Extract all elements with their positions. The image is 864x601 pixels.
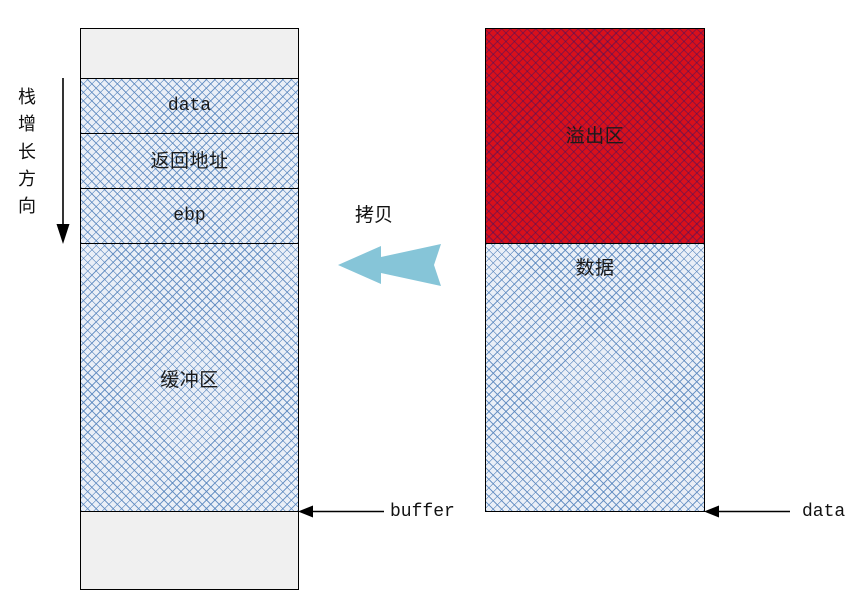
diagram-canvas: 栈 增 长 方 向 data 返回地址 ebp 缓冲区 buffer 拷贝 溢出… [0,0,864,601]
source-cell-overflow: 溢出区 [485,28,705,244]
stack-cell-return-address-label: 返回地址 [150,152,228,171]
stack-cell-data: data [80,78,299,134]
buffer-pointer-arrow [296,502,388,522]
source-cell-payload-label: 数据 [575,259,614,278]
stack-direction-arrow [46,72,84,252]
data-pointer-label: data [802,502,845,522]
source-cell-overflow-label: 溢出区 [566,127,625,146]
stack-cell-buffer: 缓冲区 [80,243,299,512]
stack-cell-data-label: data [168,97,211,115]
stack-cell-buffer-label: 缓冲区 [160,371,219,390]
stack-cell-empty-top [80,28,299,79]
stack-cell-return-address: 返回地址 [80,133,299,189]
stack-cell-empty-bottom [80,511,299,590]
source-cell-payload: 数据 [485,243,705,512]
buffer-pointer-label: buffer [390,502,455,522]
stack-direction-label: 栈 增 长 方 向 [12,84,42,221]
copy-left-arrow-icon [336,243,446,287]
stack-cell-ebp-label: ebp [173,207,205,225]
data-pointer-arrow [702,502,794,522]
stack-cell-ebp: ebp [80,188,299,244]
copy-caption-label: 拷贝 [355,200,393,227]
